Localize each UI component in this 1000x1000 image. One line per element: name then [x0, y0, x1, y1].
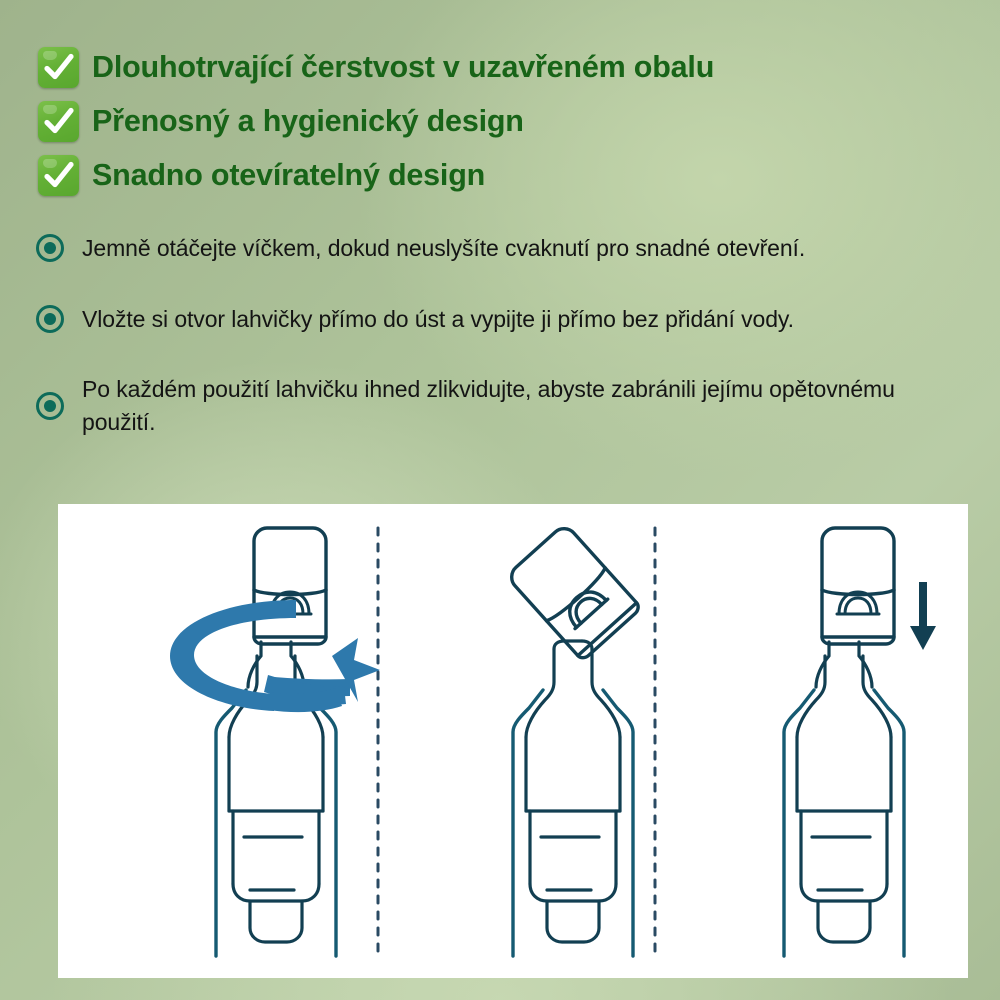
bottle-inner-outline — [797, 642, 891, 942]
illustration-step-2 — [506, 523, 641, 956]
down-arrow-icon — [910, 582, 936, 650]
feature-headline-label: Snadno otevíratelný design — [92, 160, 485, 191]
check-square-icon — [38, 101, 79, 142]
rotation-arrow-blue — [170, 600, 380, 712]
instruction-list: Jemně otáčejte víčkem, dokud neuslyšíte … — [36, 232, 986, 439]
radio-dot-icon — [36, 305, 64, 333]
instruction-text: Jemně otáčejte víčkem, dokud neuslyšíte … — [82, 232, 805, 265]
instruction-item: Po každém použití lahvičku ihned zlikvid… — [36, 373, 986, 438]
feature-headline-label: Dlouhotrvající čerstvost v uzavřeném oba… — [92, 52, 714, 83]
illustration-step-3 — [784, 528, 936, 956]
check-square-icon — [38, 47, 79, 88]
promo-page: Dlouhotrvající čerstvost v uzavřeném oba… — [0, 0, 1000, 1000]
instruction-item: Vložte si otvor lahvičky přímo do úst a … — [36, 303, 986, 336]
feature-headline-item: Dlouhotrvající čerstvost v uzavřeném oba… — [38, 40, 958, 94]
instruction-text: Vložte si otvor lahvičky přímo do úst a … — [82, 303, 794, 336]
bottle-cap-outline — [822, 528, 894, 644]
feature-headline-label: Přenosný a hygienický design — [92, 106, 524, 137]
instruction-item: Jemně otáčejte víčkem, dokud neuslyšíte … — [36, 232, 986, 265]
instruction-text: Po každém použití lahvičku ihned zlikvid… — [82, 373, 942, 438]
radio-dot-icon — [36, 234, 64, 262]
feature-headline-item: Přenosný a hygienický design — [38, 94, 958, 148]
bottle-inner-outline — [526, 641, 620, 942]
feature-headline-item: Snadno otevíratelný design — [38, 148, 958, 202]
check-square-icon — [38, 155, 79, 196]
illustration-step-1 — [170, 528, 380, 956]
radio-dot-icon — [36, 392, 64, 420]
bottle-cap-outline — [254, 528, 326, 644]
feature-headline-list: Dlouhotrvající čerstvost v uzavřeném oba… — [38, 40, 958, 202]
bottle-instruction-illustration — [58, 504, 968, 978]
